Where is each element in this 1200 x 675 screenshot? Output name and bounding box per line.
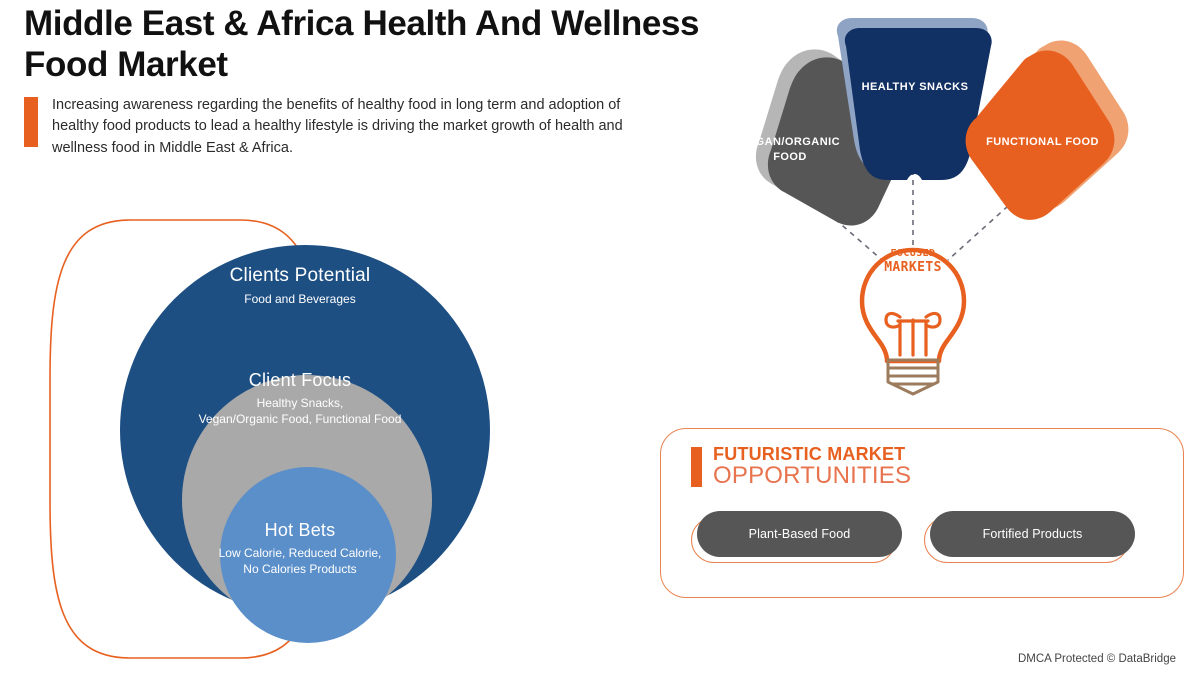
connector-functional [948,206,1008,260]
subtitle-text: Increasing awareness regarding the benef… [52,95,652,159]
subtitle-block: Increasing awareness regarding the benef… [24,95,764,159]
header-block: Middle East & Africa Health And Wellness… [24,4,764,159]
footer-copyright: DMCA Protected © DataBridge [1018,653,1176,665]
opportunities-title-line1: FUTURISTIC MARKET [713,445,911,463]
opportunities-header: FUTURISTIC MARKET OPPORTUNITIES [691,445,1183,489]
bulb-screw-base [888,360,938,394]
shields-svg [660,10,1190,400]
opportunities-accent-bar [691,447,702,487]
infographic-canvas: Middle East & Africa Health And Wellness… [0,0,1200,675]
pill-plant-based-food[interactable]: Plant-Based Food [697,511,902,557]
shield-healthy-snacks[interactable] [845,28,992,180]
page-title: Middle East & Africa Health And Wellness… [24,4,764,86]
opportunities-title-line2: OPPORTUNITIES [713,464,911,489]
opportunities-title-block: FUTURISTIC MARKET OPPORTUNITIES [713,445,911,489]
pill-fortified-products[interactable]: Fortified Products [930,511,1135,557]
futuristic-market-opportunities-panel: FUTURISTIC MARKET OPPORTUNITIES Plant-Ba… [660,428,1184,598]
concentric-circles-diagram: Clients Potential Food and Beverages Cli… [40,210,560,670]
focused-markets-diagram: VEGAN/ORGANIC FOOD HEALTHY SNACKS FUNCTI… [660,10,1190,400]
circle-hot-bets [220,467,396,643]
pill-wrap-fortified-products: Fortified Products [930,511,1135,557]
opportunities-pill-row: Plant-Based Food Fortified Products [697,511,1183,557]
pill-wrap-plant-based-food: Plant-Based Food [697,511,902,557]
venn-svg [40,210,560,670]
focused-markets-bulb[interactable] [862,250,964,394]
orange-accent-bar [24,97,38,147]
